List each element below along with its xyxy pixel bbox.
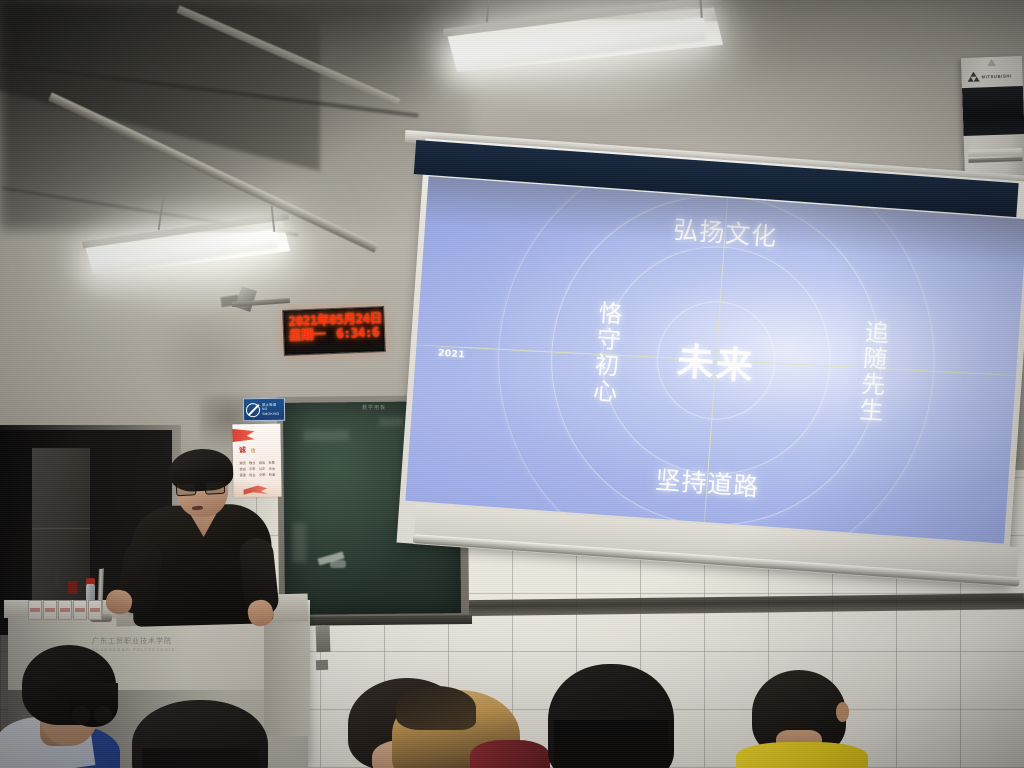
ac-brand-text: MITSUBISHI — [981, 73, 1011, 79]
podium-institution-logo: 广东工贸职业技术学院 GUANGDONG POLYTECHNIC — [92, 636, 188, 656]
presenter-glasses-icon — [176, 481, 227, 497]
ceiling-light-1 — [436, 8, 723, 73]
audience-member-4-body — [470, 740, 550, 768]
led-clock-display: 2021年05月24日 星期一 6:34:6 — [282, 306, 386, 356]
ac-top-nub — [987, 59, 996, 66]
chalk-piece — [330, 560, 346, 568]
classroom-photo-scene: 教学用板 禁止吸烟 NO SMOKING 诚 信 爱国 敬业 诚信 友善 自由 … — [0, 0, 1024, 768]
audience-member-6-ear — [836, 702, 849, 722]
door-handle[interactable] — [55, 565, 59, 587]
poster-value-grid: 爱国 敬业 诚信 友善 自由 平等 公正 法治 富强 民主 文明 和谐 — [238, 460, 276, 478]
audience-member-1-glasses-icon — [72, 706, 112, 726]
ac-brand-logo: MITSUBISHI — [967, 70, 1012, 82]
slide-text-right: 追随先生 — [851, 318, 893, 424]
podium-logo-line2: GUANGDONG POLYTECHNIC — [92, 648, 188, 652]
led-clock-time-row: 星期一 6:34:6 — [289, 325, 379, 342]
podium-boxes — [28, 598, 102, 620]
slide-text-bottom: 坚持道路 — [654, 460, 760, 503]
no-smoking-icon — [246, 403, 260, 417]
mitsubishi-diamond-icon — [967, 71, 978, 81]
slide-text-top: 弘扬文化 — [672, 210, 778, 253]
audience-member-5-hair — [548, 664, 674, 768]
wall-poster-red: 诚 信 爱国 敬业 诚信 友善 自由 平等 公正 法治 富强 民主 文明 和谐 — [232, 424, 281, 498]
podium-side-panel — [264, 616, 310, 736]
no-smoking-text: 禁止吸烟 NO SMOKING — [262, 402, 282, 416]
podium-slot-lower — [316, 660, 328, 670]
poster-banner-icon — [232, 428, 254, 442]
audience-member-6-body — [736, 742, 868, 768]
no-smoking-sign: 禁止吸烟 NO SMOKING — [243, 398, 285, 422]
poster-heading: 诚 — [239, 445, 246, 455]
led-clock-time: 6:34:6 — [336, 325, 379, 340]
ceiling-light-2 — [77, 221, 291, 276]
audience-member-4-hair-roots — [396, 686, 476, 730]
door-panel-seam — [32, 528, 90, 529]
ac-air-intake-grille — [962, 86, 1024, 136]
projection-screen-assembly: 弘扬文化 恪守初心 未来 追随先生 坚持道路 2021 — [405, 130, 1024, 550]
slide-text-left: 恪守初心 — [585, 299, 627, 405]
blackboard-label: 教学用板 — [362, 404, 386, 411]
slide-text-center: 未来 — [675, 330, 757, 389]
podium-slot — [316, 626, 331, 652]
led-clock-weekday: 星期一 — [289, 327, 326, 342]
podium-logo-line1: 广东工贸职业技术学院 — [92, 636, 188, 646]
door-red-marker — [68, 581, 77, 594]
projected-slide: 弘扬文化 恪守初心 未来 追随先生 坚持道路 2021 — [405, 176, 1024, 543]
slide-year-label: 2021 — [438, 348, 466, 360]
poster-subheading: 信 — [251, 448, 255, 454]
